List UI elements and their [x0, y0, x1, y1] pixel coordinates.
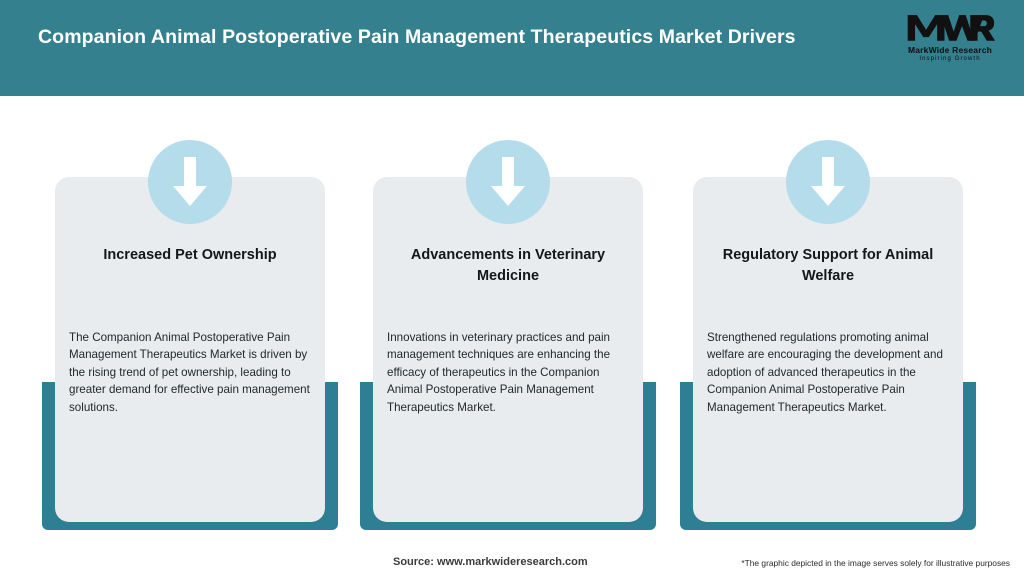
- card-body-text: The Companion Animal Postoperative Pain …: [69, 329, 317, 416]
- source-label: Source: www.markwideresearch.com: [393, 556, 588, 568]
- card-surface: Advancements in Veterinary Medicine Inno…: [373, 177, 643, 522]
- arrow-down-glyph: [487, 155, 529, 209]
- logo-tagline: Inspiring Growth: [898, 55, 1002, 63]
- arrow-down-icon: [466, 140, 550, 224]
- brand-logo: MarkWide Research Inspiring Growth: [898, 10, 1002, 72]
- drivers-card-group: Increased Pet Ownership The Companion An…: [0, 96, 1024, 536]
- card-surface: Increased Pet Ownership The Companion An…: [55, 177, 325, 522]
- arrow-down-glyph: [807, 155, 849, 209]
- arrow-down-icon: [148, 140, 232, 224]
- card-surface: Regulatory Support for Animal Welfare St…: [693, 177, 963, 522]
- driver-card-2: Advancements in Veterinary Medicine Inno…: [360, 140, 656, 530]
- driver-card-1: Increased Pet Ownership The Companion An…: [42, 140, 338, 530]
- page-footer: Source: www.markwideresearch.com *The gr…: [0, 536, 1024, 576]
- card-title: Regulatory Support for Animal Welfare: [707, 245, 949, 287]
- card-body-text: Innovations in veterinary practices and …: [387, 329, 635, 416]
- mwr-logo-icon: [904, 10, 996, 44]
- card-body-text: Strengthened regulations promoting anima…: [707, 329, 955, 416]
- driver-card-3: Regulatory Support for Animal Welfare St…: [680, 140, 976, 530]
- page-header: Companion Animal Postoperative Pain Mana…: [0, 0, 1024, 96]
- page-title: Companion Animal Postoperative Pain Mana…: [38, 24, 848, 51]
- arrow-down-icon: [786, 140, 870, 224]
- card-title: Advancements in Veterinary Medicine: [387, 245, 629, 287]
- arrow-down-glyph: [169, 155, 211, 209]
- disclaimer-label: *The graphic depicted in the image serve…: [741, 558, 1010, 568]
- logo-company-name: MarkWide Research: [898, 45, 1002, 55]
- card-title: Increased Pet Ownership: [69, 245, 311, 266]
